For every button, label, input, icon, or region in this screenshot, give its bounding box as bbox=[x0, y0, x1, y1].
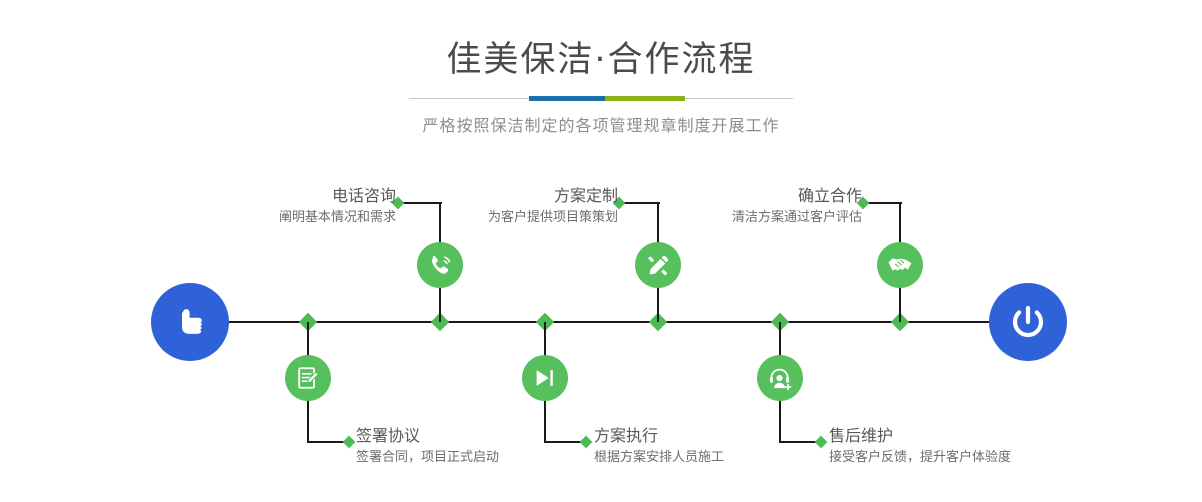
page-subtitle: 严格按照保洁制定的各项管理规章制度开展工作 bbox=[0, 116, 1202, 136]
timeline-end-node[interactable] bbox=[989, 283, 1067, 361]
connector-horizontal-step-6 bbox=[779, 441, 819, 443]
step-icon-5[interactable] bbox=[877, 242, 923, 288]
page-header: 佳美保洁·合作流程 严格按照保洁制定的各项管理规章制度开展工作 bbox=[0, 0, 1202, 136]
pointing-hand-icon bbox=[170, 302, 210, 342]
pencil-ruler-icon bbox=[645, 252, 672, 279]
power-button-icon bbox=[1006, 300, 1050, 344]
step-icon-3[interactable] bbox=[635, 242, 681, 288]
divider-green-segment bbox=[605, 96, 685, 101]
timeline-start-node[interactable] bbox=[151, 283, 229, 361]
connector-horizontal-step-5 bbox=[864, 202, 902, 204]
step-subtitle-6: 接受客户反馈，提升客户体验度 bbox=[829, 449, 1169, 467]
phone-call-icon bbox=[427, 252, 454, 279]
connector-horizontal-step-4 bbox=[544, 441, 584, 443]
page-title: 佳美保洁·合作流程 bbox=[0, 40, 1202, 80]
document-edit-icon bbox=[295, 365, 321, 391]
flow-diagram-page: 佳美保洁·合作流程 严格按照保洁制定的各项管理规章制度开展工作 bbox=[0, 0, 1202, 502]
step-title-5: 确立合作 bbox=[540, 186, 862, 206]
step-subtitle-5: 清洁方案通过客户评估 bbox=[540, 209, 862, 227]
connector-horizontal-step-2 bbox=[307, 441, 347, 443]
customer-support-icon bbox=[767, 365, 794, 392]
step-title-6: 售后维护 bbox=[829, 426, 1169, 446]
play-execute-icon bbox=[532, 365, 558, 391]
divider-blue-segment bbox=[529, 96, 605, 101]
step-icon-2[interactable] bbox=[285, 355, 331, 401]
step-label-5: 确立合作 清洁方案通过客户评估 bbox=[540, 186, 862, 227]
label-marker-step-2 bbox=[343, 436, 356, 449]
step-icon-6[interactable] bbox=[757, 355, 803, 401]
title-divider bbox=[409, 94, 793, 103]
step-icon-4[interactable] bbox=[522, 355, 568, 401]
step-icon-1[interactable] bbox=[417, 242, 463, 288]
step-label-6: 售后维护 接受客户反馈，提升客户体验度 bbox=[829, 426, 1169, 467]
handshake-icon bbox=[886, 251, 914, 279]
